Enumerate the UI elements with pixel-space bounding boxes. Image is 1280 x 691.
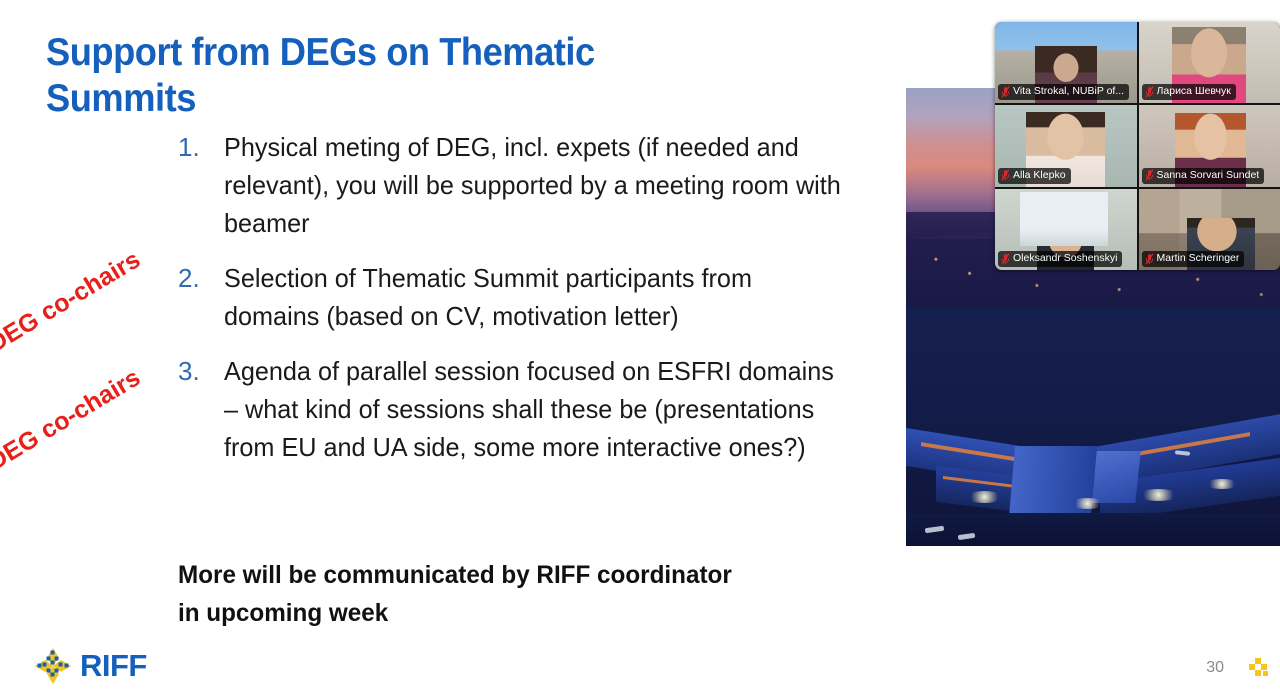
mic-muted-icon: [1001, 169, 1010, 181]
mic-muted-icon: [1145, 86, 1154, 98]
list-item-text: Agenda of parallel session focused on ES…: [224, 352, 849, 466]
list-item-text: Physical meting of DEG, incl. expets (if…: [224, 128, 849, 242]
riff-wordmark: RIFF: [80, 648, 147, 684]
list-item-number: 3.: [178, 352, 224, 390]
list-item-number: 1.: [178, 128, 224, 166]
video-tile-participant-5[interactable]: Oleksandr Soshenskyi: [995, 189, 1137, 270]
mic-muted-icon: [1145, 253, 1154, 265]
video-tile-participant-4[interactable]: Sanna Sorvari Sundet: [1139, 105, 1280, 186]
riff-mosaic-icon: [33, 646, 73, 686]
photo-light-glow: [1138, 489, 1179, 501]
page-number: 30: [1206, 659, 1224, 677]
closing-note: More will be communicated by RIFF coordi…: [178, 556, 760, 632]
list-item: 3. Agenda of parallel session focused on…: [178, 352, 868, 466]
video-tile-participant-3[interactable]: Alla Klepko: [995, 105, 1137, 186]
participant-name: Лариса Шевчук: [1157, 85, 1231, 98]
participant-name: Oleksandr Soshenskyi: [1013, 252, 1117, 265]
mic-muted-icon: [1001, 253, 1010, 265]
participant-name-tag: Vita Strokal, NUBiP of...: [998, 84, 1129, 100]
video-tile-participant-2[interactable]: Лариса Шевчук: [1139, 22, 1280, 103]
photo-building-complex: [906, 308, 1280, 546]
annotation-deg-co-chairs-2: DEG co-chairs: [0, 363, 146, 477]
participant-name: Martin Scheringer: [1157, 252, 1240, 265]
mic-muted-icon: [1001, 86, 1010, 98]
list-item-number: 2.: [178, 259, 224, 297]
participant-name-tag: Лариса Шевчук: [1142, 84, 1236, 100]
photo-foreground: [906, 513, 1280, 546]
list-item-text: Selection of Thematic Summit participant…: [224, 259, 849, 335]
page-title: Support from DEGs on Thematic Summits: [46, 30, 660, 122]
participant-name-tag: Martin Scheringer: [1142, 251, 1245, 267]
photo-light-glow: [1205, 479, 1239, 489]
participant-name: Sanna Sorvari Sundet: [1157, 169, 1260, 182]
participant-name: Vita Strokal, NUBiP of...: [1013, 85, 1124, 98]
mic-muted-icon: [1145, 169, 1154, 181]
annotation-deg-co-chairs-1: DEG co-chairs: [0, 245, 146, 359]
list-item: 1. Physical meting of DEG, incl. expets …: [178, 128, 868, 242]
numbered-list: 1. Physical meting of DEG, incl. expets …: [178, 128, 868, 483]
participant-name-tag: Oleksandr Soshenskyi: [998, 251, 1122, 267]
video-tile-participant-1[interactable]: Vita Strokal, NUBiP of...: [995, 22, 1137, 103]
list-item: 2. Selection of Thematic Summit particip…: [178, 259, 868, 335]
participant-name: Alla Klepko: [1013, 169, 1066, 182]
corner-mosaic-icon: [1246, 655, 1272, 681]
video-call-grid[interactable]: Vita Strokal, NUBiP of... Лариса Шевчук …: [995, 22, 1280, 270]
riff-logo: RIFF: [33, 646, 147, 686]
photo-light-glow: [1071, 498, 1105, 509]
video-tile-participant-6[interactable]: Martin Scheringer: [1139, 189, 1280, 270]
participant-name-tag: Sanna Sorvari Sundet: [1142, 168, 1265, 184]
participant-name-tag: Alla Klepko: [998, 168, 1071, 184]
